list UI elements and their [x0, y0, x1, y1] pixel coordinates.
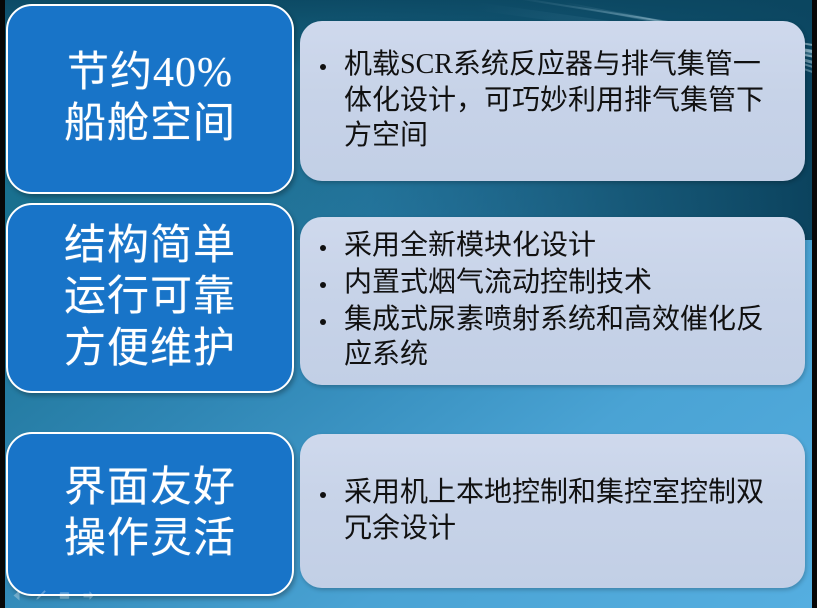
bullet-dot-icon: [320, 319, 326, 325]
heading-box-row-1[interactable]: 节约40% 船舱空间: [6, 4, 294, 194]
list-item: 内置式烟气流动控制技术: [314, 265, 785, 301]
pen-icon[interactable]: [34, 589, 47, 602]
heading-text-row-2: 结构简单 运行可靠 方便维护: [64, 221, 236, 375]
content-box-row-2[interactable]: 采用全新模块化设计 内置式烟气流动控制技术 集成式尿素喷射系统和高效催化反应系统: [300, 217, 805, 385]
right-edge-border: [812, 0, 817, 608]
content-box-row-1[interactable]: 机载SCR系统反应器与排气集管一体化设计，可巧妙利用排气集管下方空间: [300, 21, 805, 181]
heading-text-row-3: 界面友好 操作灵活: [64, 463, 236, 565]
bullet-list-row-1: 机载SCR系统反应器与排气集管一体化设计，可巧妙利用排气集管下方空间: [314, 47, 785, 155]
previous-slide-icon[interactable]: [10, 589, 23, 602]
next-slide-icon[interactable]: [82, 589, 95, 602]
bullet-text: 集成式尿素喷射系统和高效催化反应系统: [344, 304, 764, 371]
list-item: 采用全新模块化设计: [314, 228, 785, 264]
bullet-text: 内置式烟气流动控制技术: [344, 267, 652, 298]
heading-text-row-1: 节约40% 船舱空间: [64, 48, 236, 150]
list-item: 采用机上本地控制和集控室控制双冗余设计: [314, 475, 785, 547]
bullet-dot-icon: [320, 492, 326, 498]
bullet-text: 机载SCR系统反应器与排气集管一体化设计，可巧妙利用排气集管下方空间: [344, 49, 764, 152]
bullet-dot-icon: [320, 282, 326, 288]
bullet-text: 采用机上本地控制和集控室控制双冗余设计: [344, 477, 764, 544]
list-item: 机载SCR系统反应器与排气集管一体化设计，可巧妙利用排气集管下方空间: [314, 47, 785, 154]
bullet-dot-icon: [320, 245, 326, 251]
presenter-toolbar[interactable]: [10, 589, 95, 602]
heading-box-row-2[interactable]: 结构简单 运行可靠 方便维护: [6, 203, 294, 393]
list-item: 集成式尿素喷射系统和高效催化反应系统: [314, 302, 785, 374]
bullet-dot-icon: [320, 64, 326, 70]
content-box-row-3[interactable]: 采用机上本地控制和集控室控制双冗余设计: [300, 434, 805, 588]
heading-box-row-3[interactable]: 界面友好 操作灵活: [6, 432, 294, 596]
left-edge-border: [0, 0, 5, 608]
bullet-text: 采用全新模块化设计: [344, 230, 596, 261]
bullet-list-row-2: 采用全新模块化设计 内置式烟气流动控制技术 集成式尿素喷射系统和高效催化反应系统: [314, 228, 785, 374]
slide-canvas: 节约40% 船舱空间 机载SCR系统反应器与排气集管一体化设计，可巧妙利用排气集…: [0, 0, 817, 608]
bullet-list-row-3: 采用机上本地控制和集控室控制双冗余设计: [314, 475, 785, 548]
slide-menu-icon[interactable]: [58, 589, 71, 602]
